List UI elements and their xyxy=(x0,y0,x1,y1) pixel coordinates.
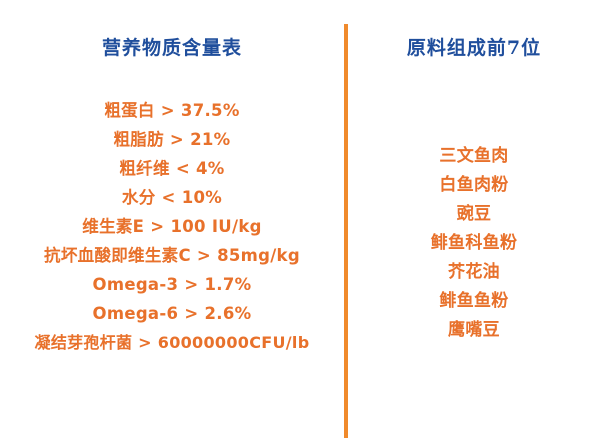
ingredients-list: 三文鱼肉 白鱼肉粉 豌豆 鲱鱼科鱼粉 芥花油 鲱鱼鱼粉 鹰嘴豆 xyxy=(348,142,600,345)
nutrition-panel: 营养物质含量表 粗蛋白 > 37.5% 粗脂肪 > 21% 粗纤维 < 4% 水… xyxy=(0,0,344,443)
list-item: 三文鱼肉 xyxy=(348,142,600,171)
list-item: 鲱鱼科鱼粉 xyxy=(348,229,600,258)
list-item: 粗蛋白 > 37.5% xyxy=(0,96,344,125)
list-item: Omega-6 > 2.6% xyxy=(0,299,344,328)
nutrition-panel-title: 营养物质含量表 xyxy=(0,33,344,60)
list-item: 水分 < 10% xyxy=(0,183,344,212)
list-item: 粗脂肪 > 21% xyxy=(0,125,344,154)
list-item: 芥花油 xyxy=(348,258,600,287)
list-item: 鹰嘴豆 xyxy=(348,316,600,345)
list-item: 白鱼肉粉 xyxy=(348,171,600,200)
list-item: 鲱鱼鱼粉 xyxy=(348,287,600,316)
list-item: Omega-3 > 1.7% xyxy=(0,270,344,299)
list-item: 维生素E > 100 IU/kg xyxy=(0,212,344,241)
nutrition-list: 粗蛋白 > 37.5% 粗脂肪 > 21% 粗纤维 < 4% 水分 < 10% … xyxy=(0,96,344,357)
list-item: 粗纤维 < 4% xyxy=(0,154,344,183)
list-item: 豌豆 xyxy=(348,200,600,229)
nutrition-info-poster: 营养物质含量表 粗蛋白 > 37.5% 粗脂肪 > 21% 粗纤维 < 4% 水… xyxy=(0,0,600,443)
list-item: 抗坏血酸即维生素C > 85mg/kg xyxy=(0,241,344,270)
list-item: 凝结芽孢杆菌 > 60000000CFU/lb xyxy=(0,328,344,357)
ingredients-panel-title: 原料组成前7位 xyxy=(348,33,600,60)
ingredients-panel: 原料组成前7位 三文鱼肉 白鱼肉粉 豌豆 鲱鱼科鱼粉 芥花油 鲱鱼鱼粉 鹰嘴豆 xyxy=(348,0,600,443)
